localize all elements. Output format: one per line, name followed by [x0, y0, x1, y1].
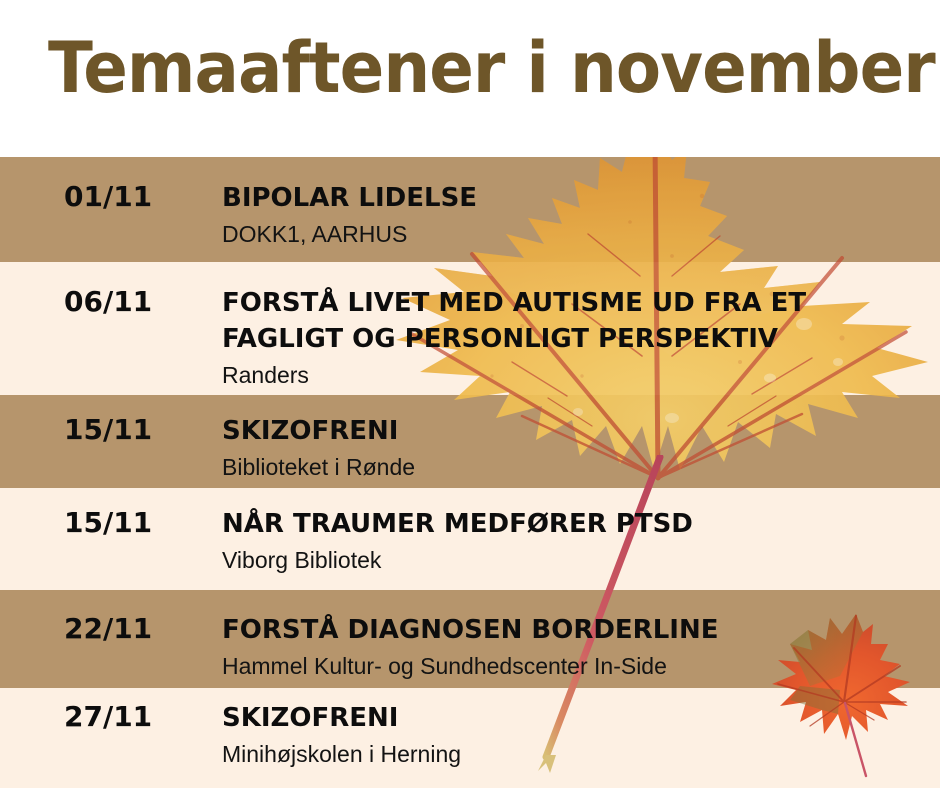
schedule-band-4: [0, 488, 940, 590]
poster-header: Temaaftener i november: [0, 0, 940, 157]
page-title: Temaaftener i november: [48, 26, 935, 110]
schedule-band-6: [0, 688, 940, 788]
schedule-band-3: [0, 395, 940, 488]
poster-canvas: Temaaftener i november 01/11BIPOLAR LIDE…: [0, 0, 940, 788]
schedule-band-2: [0, 262, 940, 395]
schedule-band-5: [0, 590, 940, 688]
schedule-band-1: [0, 157, 940, 262]
